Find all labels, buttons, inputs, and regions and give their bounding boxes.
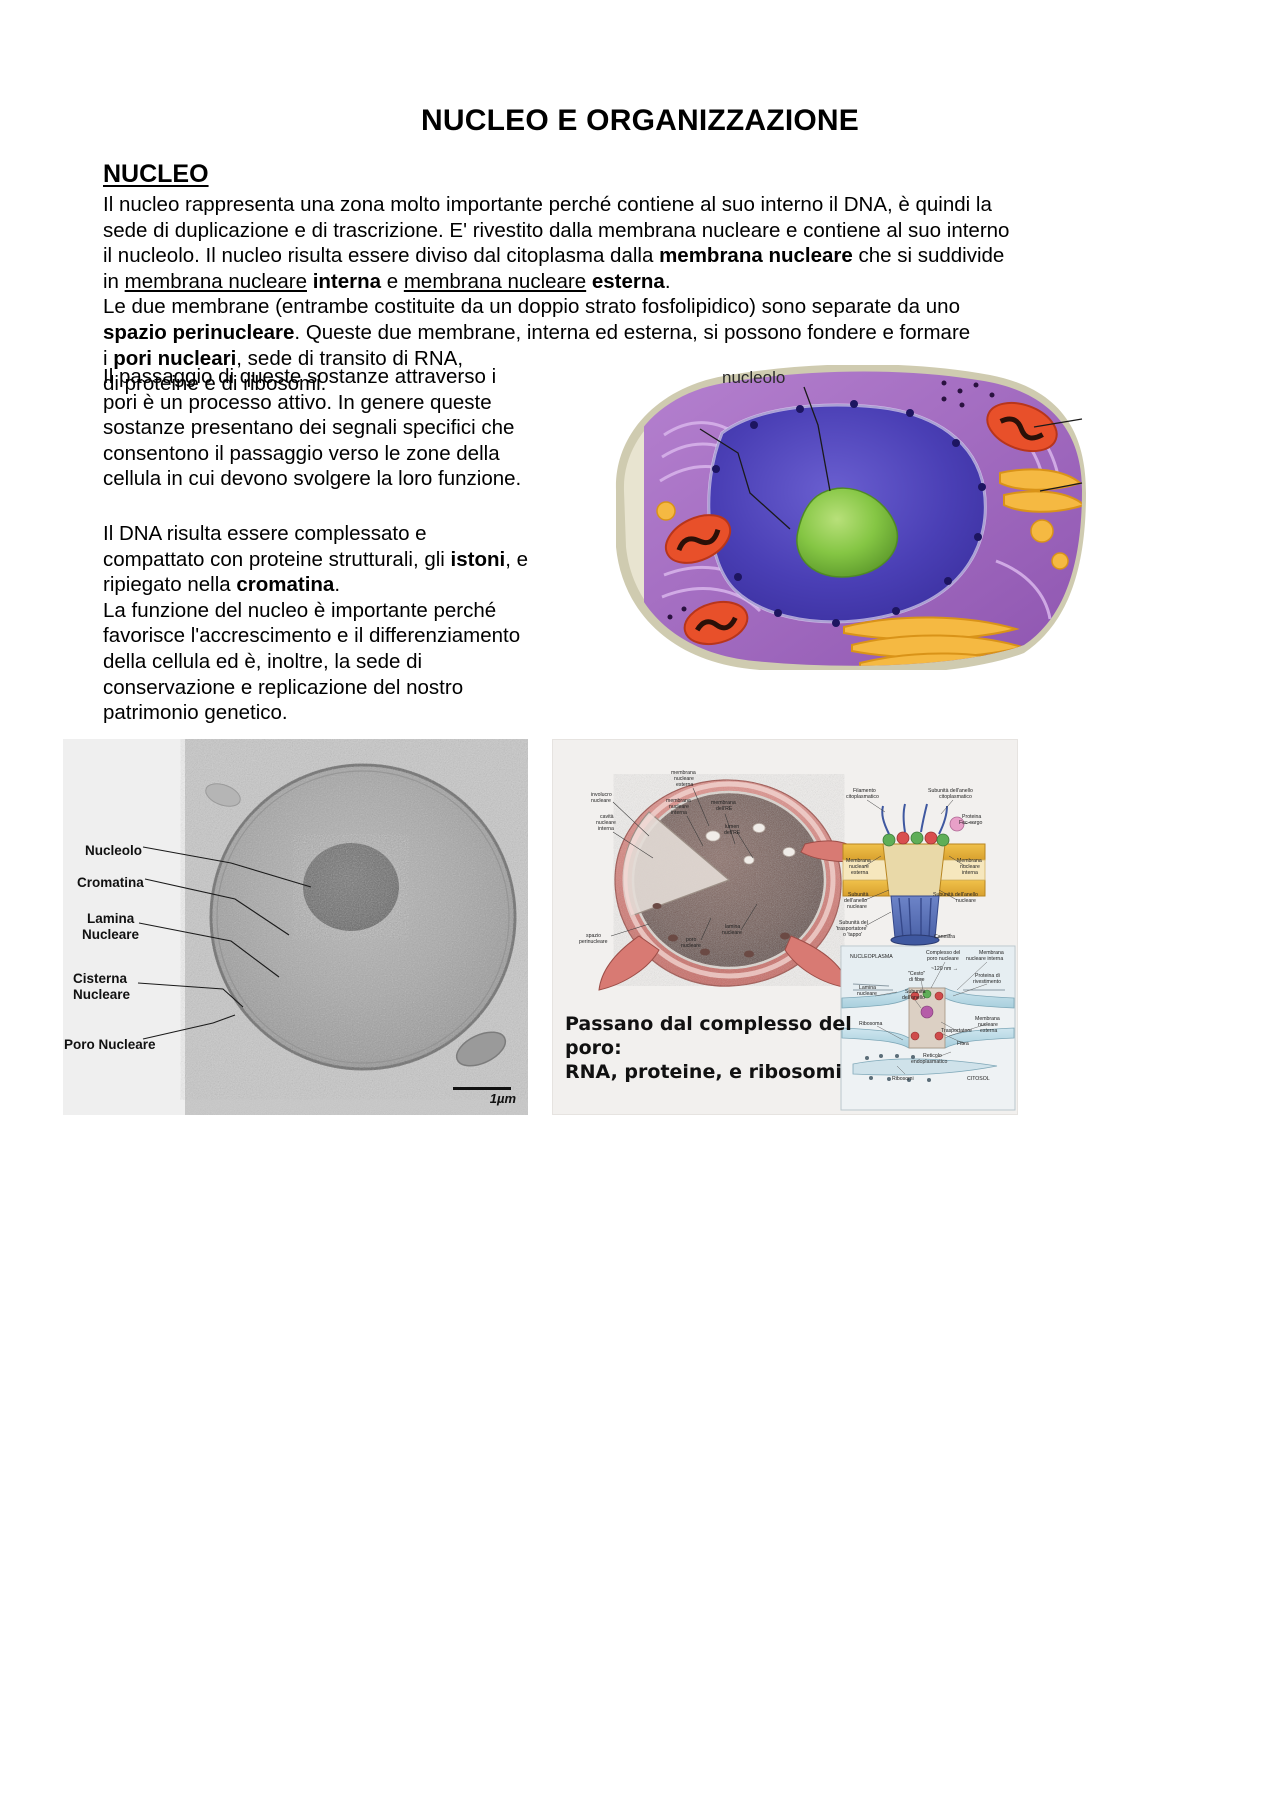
intro-line-6b: . Queste due membrane, interna ed estern… — [294, 321, 970, 344]
document-page: NUCLEO E ORGANIZZAZIONE NUCLEO Il nucleo… — [0, 0, 1280, 1811]
term-interna: interna — [313, 270, 381, 293]
tem-label-cromatina: Cromatina — [77, 875, 144, 891]
section-heading-nucleo: NUCLEO — [103, 160, 209, 189]
micro-label-reticolo-2: endoplasmatico — [911, 1059, 947, 1065]
paragraph-dna-cromatina: Il DNA risulta essere complessato e comp… — [103, 521, 533, 726]
term-cromatina: cromatina — [236, 573, 334, 596]
micro-label-membrana-int-3: interna — [671, 810, 687, 816]
micro-label-filamento-2: citoplasmatico — [846, 794, 879, 800]
term-spazio-perinucleare: spazio perinucleare — [103, 321, 294, 344]
tem-scale-bar — [453, 1087, 511, 1090]
figure-cell-nucleus: nucleolo nucleo — [604, 365, 1086, 670]
micro-label-involucro-2: nucleare — [591, 798, 611, 804]
nuclear-basket — [891, 896, 939, 938]
page-title: NUCLEO E ORGANIZZAZIONE — [0, 104, 1280, 138]
tem-label-cisterna-nucleare: Nucleare — [73, 987, 130, 1003]
micro-label-ribosomi: Ribosomi — [892, 1076, 914, 1082]
micro-label-membrana-est-inset-3: esterna — [980, 1028, 997, 1034]
term-membrana-nucleare-interna: membrana nucleare — [125, 270, 307, 293]
micro-label-cavita-3: interna — [598, 826, 614, 832]
micro-label-cesto-2: di fibre — [909, 977, 925, 983]
pori-figure-caption: Passano dal complesso del poro: RNA, pro… — [565, 1012, 885, 1084]
period-2: . — [334, 573, 340, 596]
micro-label-nucleoplasma: NUCLEOPLASMA — [850, 954, 893, 960]
figure-nuclear-pores: Passaggio attraverso i pori nucleari — [552, 739, 1018, 1115]
pori-caption-line2: RNA, proteine, e ribosomi — [565, 1061, 842, 1083]
micro-label-lamina-inset-2: nucleare — [857, 991, 877, 997]
conj-e: e — [381, 270, 404, 293]
micro-label-lumen-re-2: dell'RE — [724, 830, 740, 836]
micro-label-dimension: ~120 nm → — [931, 966, 958, 972]
tem-label-nucleolo: Nucleolo — [85, 843, 142, 859]
micro-label-perinucleare: perinucleare — [579, 939, 608, 945]
basket-terminal-ring — [891, 935, 939, 945]
micro-label-trasportatore-inset: Trasportatore — [941, 1028, 972, 1034]
micro-label-membrana-inset-2: nucleare interna — [966, 956, 1003, 962]
term-membrana-nucleare-esterna: membrana nucleare — [404, 270, 586, 293]
micro-label-subunita-cito-2: citoplasmatico — [939, 794, 972, 800]
paragraph-passaggio-sostanze: Il passaggio di queste sostanze attraver… — [103, 364, 523, 492]
micro-label-proteina-2: Fec-cargo — [959, 820, 982, 826]
micro-label-subunita-nuc-3: nucleare — [847, 904, 867, 910]
tem-label-lamina-nucleare: Nucleare — [82, 927, 139, 943]
term-istoni: istoni — [451, 548, 506, 571]
micro-label-membrana-nuc-int-3: interna — [962, 870, 978, 876]
funzione-nucleo-text: La funzione del nucleo è importante perc… — [103, 599, 520, 724]
tem-label-poro-nucleare: Poro Nucleare — [64, 1037, 156, 1053]
intro-line-3c: che si — [853, 244, 912, 267]
tem-nucleolus — [303, 843, 399, 931]
micro-label-membrana-est-3: esterna — [676, 782, 693, 788]
dna-line-a: Il DNA risulta essere complessato e comp… — [103, 522, 451, 571]
term-esterna: esterna — [592, 270, 665, 293]
tem-label-cisterna: Cisterna — [73, 971, 127, 987]
cell-nucleus-svg — [604, 365, 1086, 670]
micro-label-proteina-riv-2: rivestimento — [973, 979, 1001, 985]
micro-label-citosol: CITOSOL — [967, 1076, 990, 1082]
tem-label-lamina: Lamina — [87, 911, 134, 927]
micro-label-complesso-poro-2: poro nucleare — [927, 956, 959, 962]
micro-label-membrana-re-2: dell'RE — [716, 806, 732, 812]
pori-caption-line1: Passano dal complesso del poro: — [565, 1013, 852, 1059]
intro-line-2: sede di duplicazione e di trascrizione. … — [103, 219, 941, 242]
intro-line-1: Il nucleo rappresenta una zona molto imp… — [103, 193, 992, 216]
pore-barrel — [883, 844, 945, 896]
intro-line-5: Le due membrane (entrambe costituite da … — [103, 295, 960, 318]
micro-label-canestra: Canestra — [934, 934, 955, 940]
micro-label-lamina-2: nucleare — [722, 930, 742, 936]
micro-label-subunita-inset-2: dell'anello — [902, 995, 925, 1001]
micro-label-poro-2: nucleare — [681, 943, 701, 949]
label-nucleolo: nucleolo — [722, 368, 785, 388]
term-membrana-nucleare: membrana nucleare — [659, 244, 853, 267]
micro-label-membrana-nuc-est-3: esterna — [851, 870, 868, 876]
micro-label-fibra: Fibra — [957, 1041, 969, 1047]
period-1: . — [665, 270, 671, 293]
micro-label-subunita-anello-2: nucleare — [956, 898, 976, 904]
tem-scale-label: 1µm — [490, 1091, 516, 1106]
micro-label-trasportatore-3: o 'tappo' — [843, 932, 862, 938]
figure-tem-micrograph: Nucleolo Cromatina Lamina Nucleare Ciste… — [63, 739, 528, 1115]
